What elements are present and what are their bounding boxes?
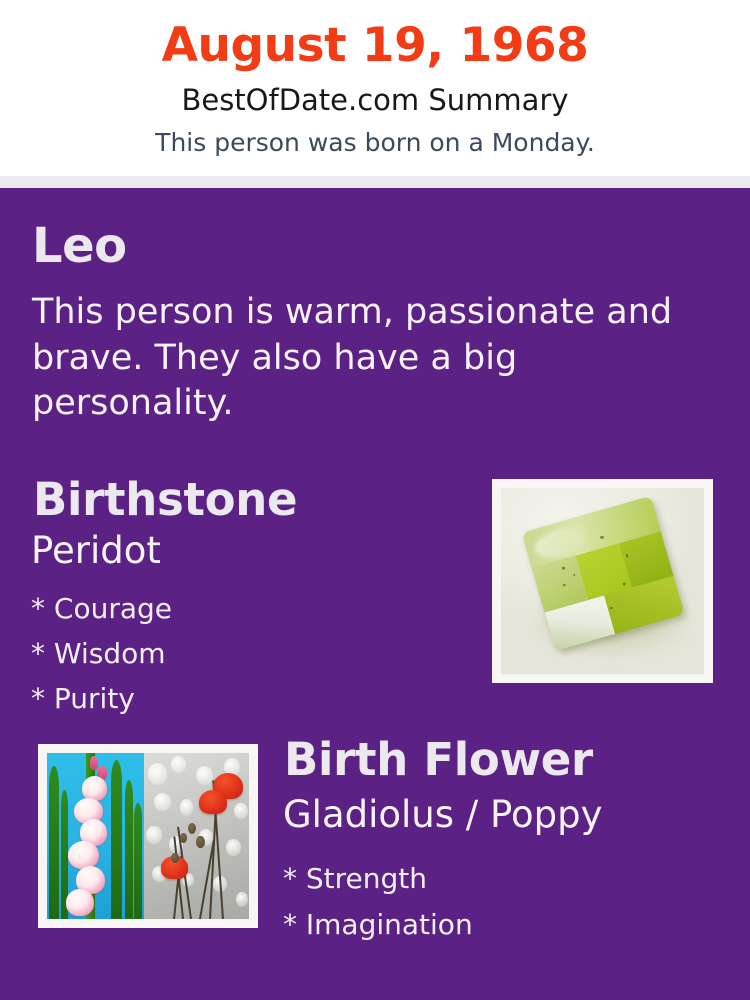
list-item: * Strength: [283, 856, 713, 902]
gladiolus-bloom: [68, 841, 99, 869]
list-item: * Imagination: [283, 902, 713, 948]
bokeh-dot: [154, 793, 171, 811]
bokeh-dot: [148, 763, 167, 785]
bokeh-dot: [234, 803, 248, 820]
zodiac-sign-name: Leo: [32, 222, 127, 270]
bokeh-dot: [180, 799, 194, 816]
poppy-photo-half: [144, 753, 249, 919]
gladiolus-poppy-image: [47, 753, 249, 919]
leaf-shape: [111, 760, 122, 919]
zodiac-description: This person is warm, passionate and brav…: [32, 290, 692, 427]
poppy-bloom: [199, 790, 227, 815]
gladiolus-bloom: [66, 889, 93, 916]
birthflower-image-frame: [38, 744, 258, 928]
list-item: * Courage: [31, 586, 451, 631]
poppy-bud: [171, 853, 178, 863]
bokeh-dot: [236, 892, 248, 907]
list-item: * Purity: [31, 676, 451, 721]
birthflower-heading: Birth Flower: [284, 737, 593, 782]
page-title: August 19, 1968: [0, 22, 750, 69]
header: August 19, 1968 BestOfDate.com Summary T…: [0, 0, 750, 176]
site-summary-subtitle: BestOfDate.com Summary: [0, 86, 750, 115]
poppy-bud: [196, 836, 204, 848]
birthstone-name: Peridot: [31, 532, 161, 569]
list-item: * Wisdom: [31, 631, 451, 676]
poppy-bud: [188, 823, 196, 835]
birthstone-image-frame: [492, 479, 713, 683]
bokeh-dot: [226, 839, 241, 856]
birthflower-name: Gladiolus / Poppy: [283, 796, 603, 833]
birthflower-traits-list: * Strength * Imagination: [283, 856, 713, 948]
peridot-gemstone-image: [501, 488, 704, 674]
born-day-text: This person was born on a Monday.: [0, 130, 750, 155]
bokeh-dot: [196, 766, 213, 784]
bokeh-dot: [146, 826, 162, 844]
leaf-shape: [125, 780, 134, 919]
bokeh-dot: [171, 756, 186, 773]
birthstone-heading: Birthstone: [33, 477, 297, 522]
split-photo: [47, 753, 249, 919]
poppy-bud: [180, 833, 187, 843]
summary-card: August 19, 1968 BestOfDate.com Summary T…: [0, 0, 750, 1000]
birthstone-traits-list: * Courage * Wisdom * Purity: [31, 586, 451, 721]
leaf-shape: [49, 766, 59, 919]
header-divider: [0, 176, 750, 188]
content-panel: Leo This person is warm, passionate and …: [0, 188, 750, 1000]
leaf-shape: [134, 803, 142, 919]
gladiolus-photo-half: [47, 753, 144, 919]
